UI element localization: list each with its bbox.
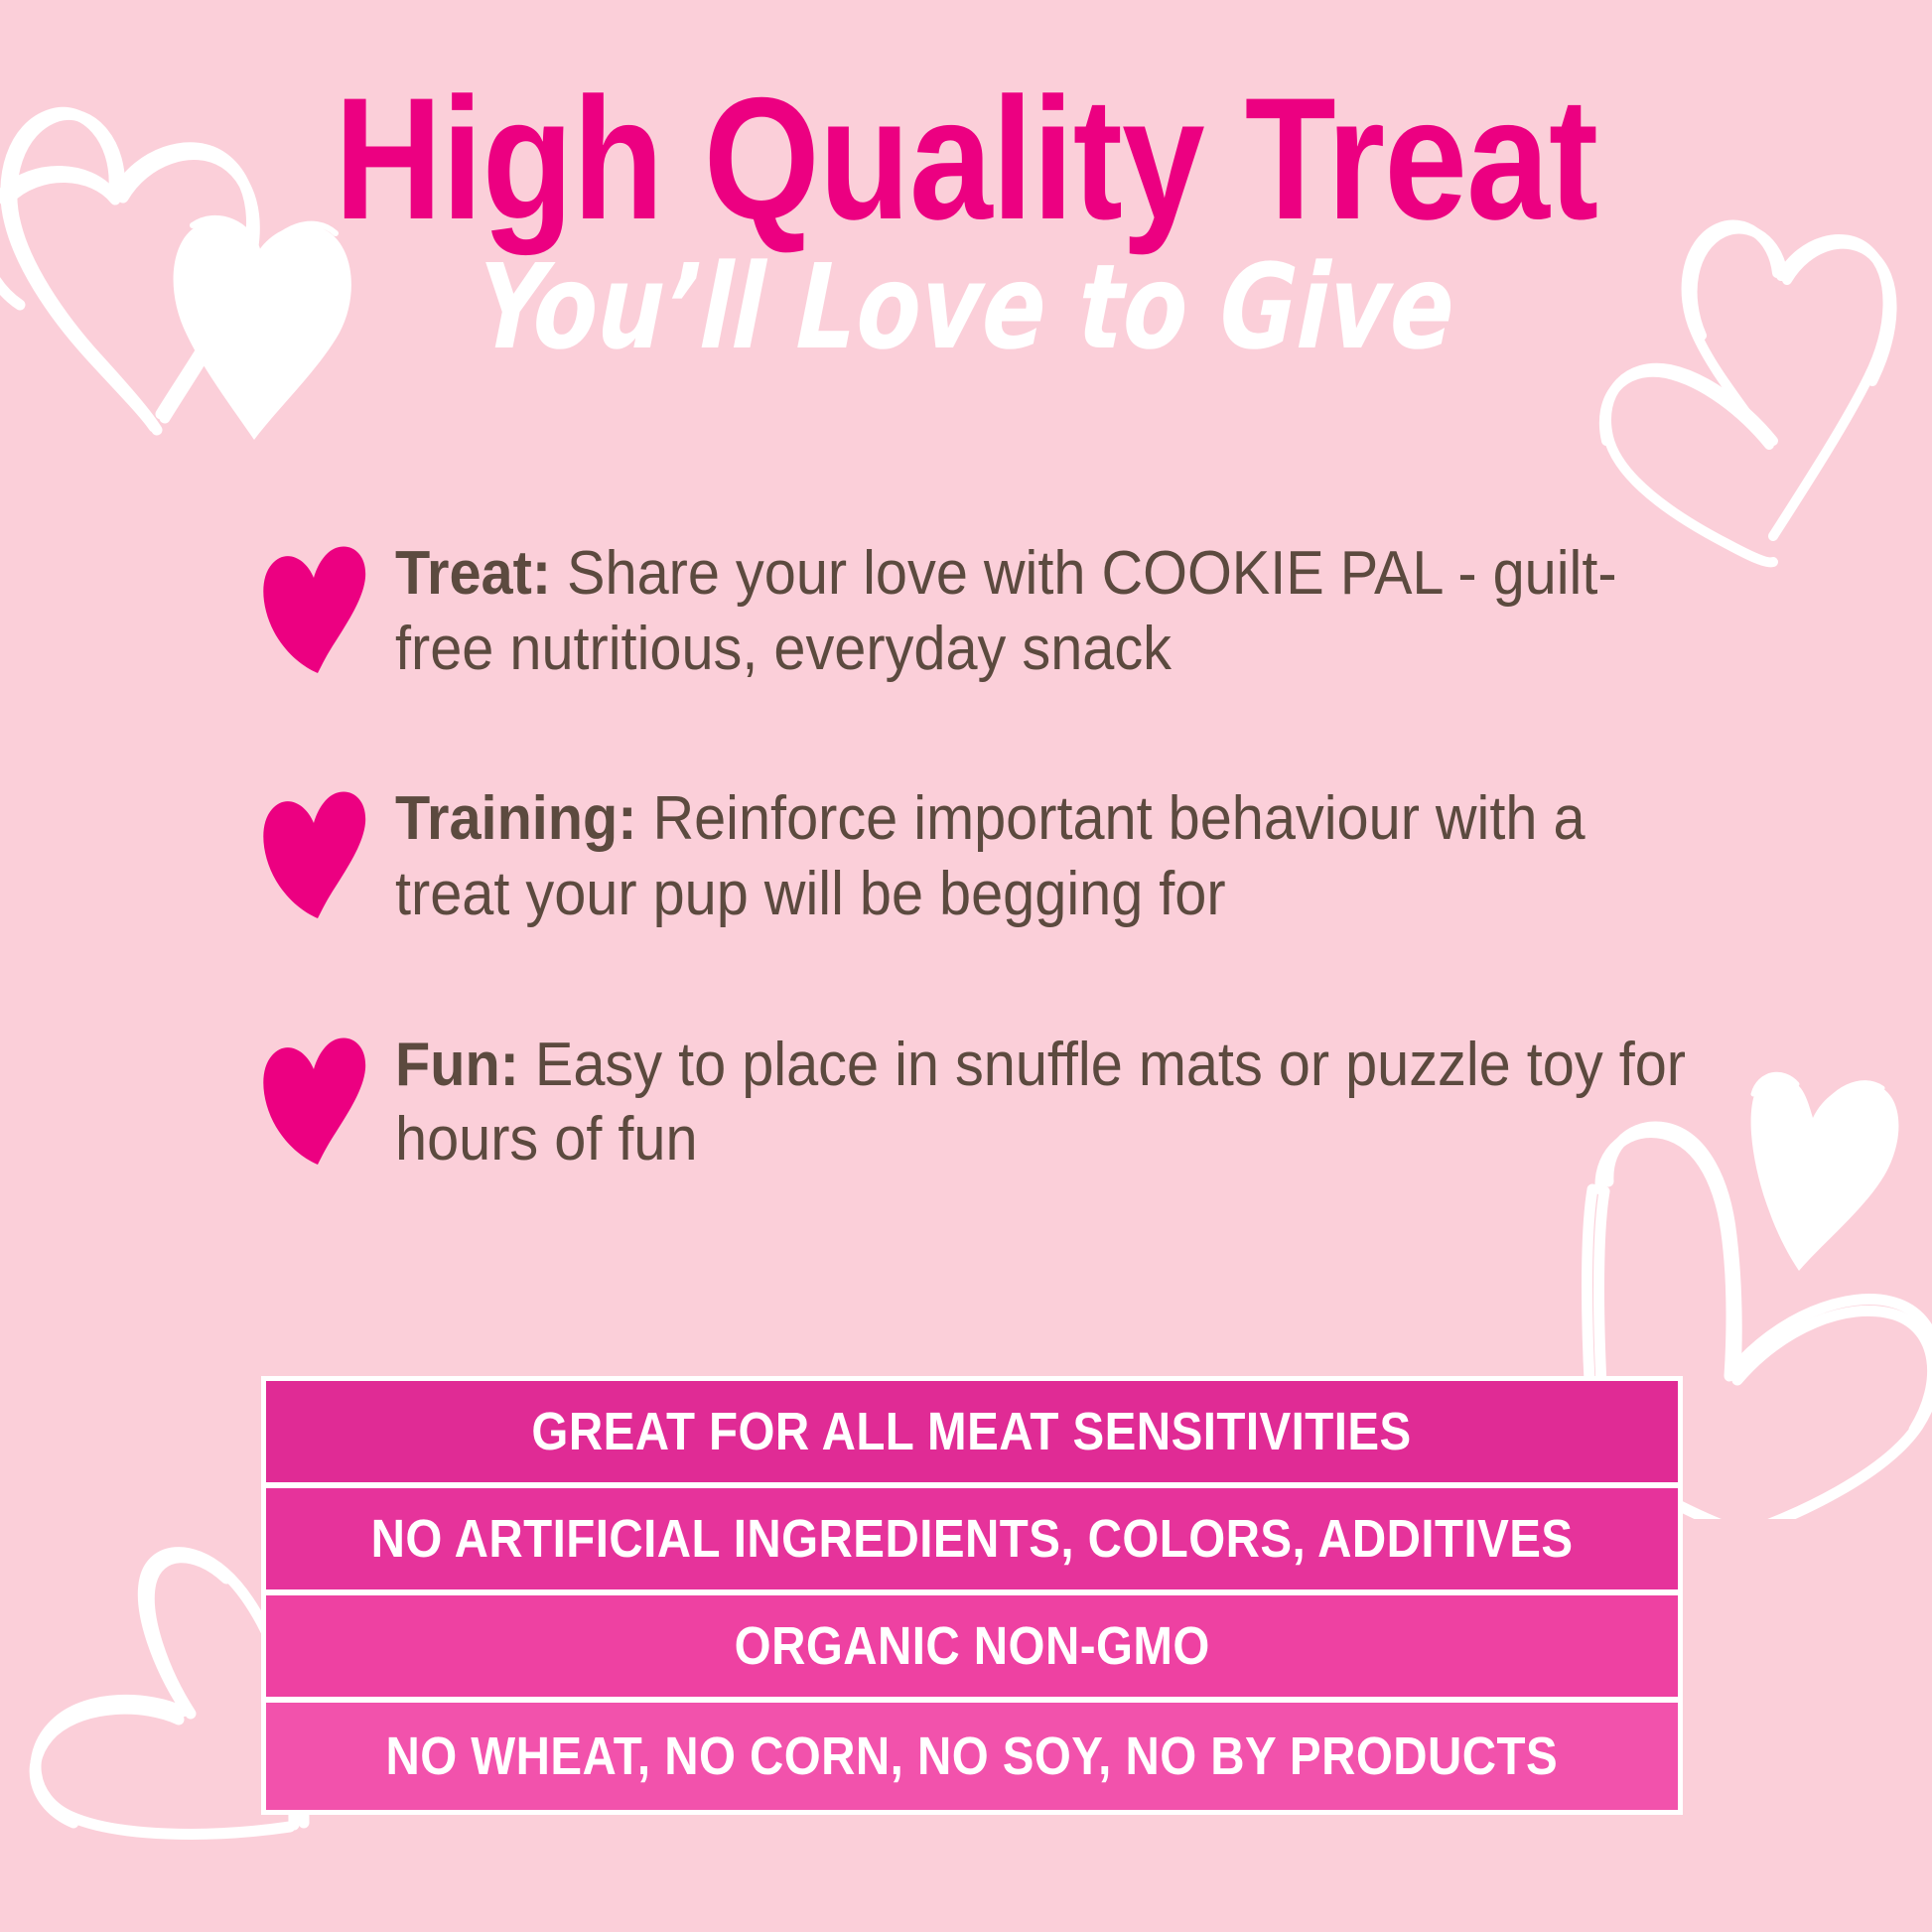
claim-bar: ORGANIC NON-GMO <box>266 1595 1678 1703</box>
feature-text: Treat: Share your love with COOKIE PAL -… <box>395 536 1707 686</box>
feature-text: Training: Reinforce important behaviour … <box>395 781 1707 931</box>
feature-text: Fun: Easy to place in snuffle mats or pu… <box>395 1028 1707 1177</box>
claim-text: NO ARTIFICIAL INGREDIENTS, COLORS, ADDIT… <box>371 1512 1574 1566</box>
feature-body: Easy to place in snuffle mats or puzzle … <box>395 1031 1686 1174</box>
heart-icon <box>256 1035 373 1165</box>
claim-bar: GREAT FOR ALL MEAT SENSITIVITIES <box>266 1381 1678 1488</box>
feature-label: Treat: <box>395 539 551 608</box>
header-block: High Quality Treat You’ll Love to Give <box>0 77 1932 365</box>
promo-graphic: High Quality Treat You’ll Love to Give T… <box>0 0 1932 1932</box>
claim-bar: NO WHEAT, NO CORN, NO SOY, NO BY PRODUCT… <box>266 1703 1678 1810</box>
feature-label: Fun: <box>395 1031 519 1099</box>
feature-item-training: Training: Reinforce important behaviour … <box>256 781 1805 931</box>
page-title: High Quality Treat <box>135 77 1797 242</box>
heart-icon <box>256 789 373 918</box>
feature-label: Training: <box>395 784 636 853</box>
feature-item-fun: Fun: Easy to place in snuffle mats or pu… <box>256 1028 1805 1177</box>
heart-icon <box>256 544 373 673</box>
feature-item-treat: Treat: Share your love with COOKIE PAL -… <box>256 536 1805 686</box>
feature-list: Treat: Share your love with COOKIE PAL -… <box>256 536 1805 1273</box>
claim-text: ORGANIC NON-GMO <box>734 1619 1209 1673</box>
claim-text: NO WHEAT, NO CORN, NO SOY, NO BY PRODUCT… <box>386 1729 1559 1783</box>
claim-text: GREAT FOR ALL MEAT SENSITIVITIES <box>532 1405 1412 1458</box>
feature-body: Share your love with COOKIE PAL - guilt-… <box>395 539 1617 683</box>
page-subtitle: You’ll Love to Give <box>191 248 1741 365</box>
claims-list: GREAT FOR ALL MEAT SENSITIVITIES NO ARTI… <box>261 1376 1683 1815</box>
claim-bar: NO ARTIFICIAL INGREDIENTS, COLORS, ADDIT… <box>266 1488 1678 1595</box>
